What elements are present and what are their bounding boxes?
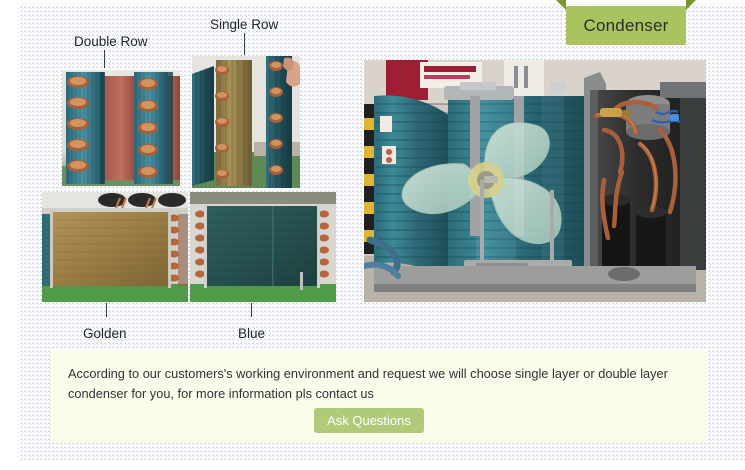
leader-line-double-row — [104, 50, 105, 68]
label-golden: Golden — [83, 326, 127, 341]
section-header-ribbon: Condenser — [566, 6, 686, 45]
label-single-row: Single Row — [210, 17, 278, 32]
thumbnail-golden[interactable] — [42, 192, 188, 302]
info-panel: According to our customers's working env… — [52, 350, 706, 443]
leader-line-single-row — [244, 33, 245, 55]
leader-line-golden — [106, 303, 107, 317]
thumbnail-single-row[interactable] — [192, 56, 300, 188]
ribbon-fold-right-icon — [686, 0, 696, 10]
label-blue: Blue — [238, 326, 265, 341]
label-double-row: Double Row — [74, 34, 148, 49]
thumbnail-blue[interactable] — [190, 192, 336, 302]
leader-line-blue — [251, 303, 252, 317]
product-banner: Condenser Double Row Single Row Golden B… — [0, 0, 745, 470]
ask-questions-button[interactable]: Ask Questions — [314, 408, 424, 433]
main-photo-condenser-unit[interactable] — [364, 60, 706, 302]
ribbon-fold-left-icon — [556, 0, 566, 10]
thumbnail-double-row[interactable] — [62, 70, 180, 186]
info-panel-text: According to our customers's working env… — [68, 364, 688, 404]
page-title: Condenser — [584, 16, 669, 36]
